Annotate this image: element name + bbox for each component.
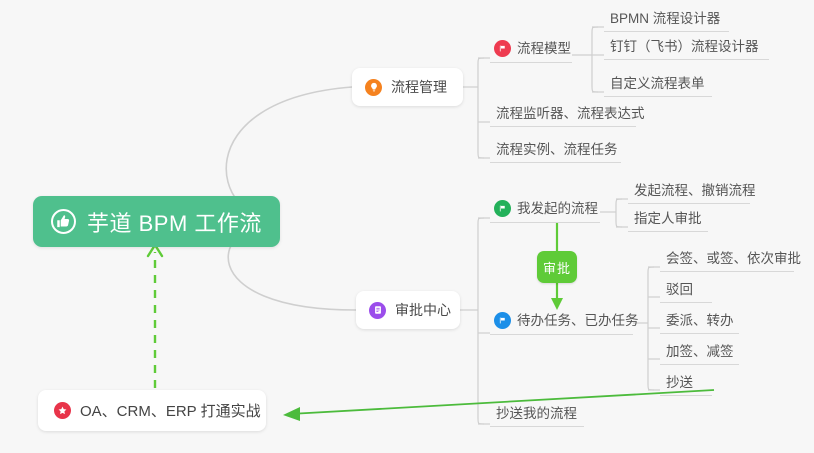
leaf-bpmn-designer[interactable]: BPMN 流程设计器 [604,12,729,32]
leaf-label-faqi-chexiao: 发起流程、撤销流程 [628,184,762,198]
bracket-liucheng-moxing [592,27,598,92]
bracket-shenpi-zhongxin [478,218,484,424]
badge-shenpi[interactable]: 审批 [537,251,577,283]
flag-icon [494,312,511,329]
bracket-wofaqi [616,199,622,227]
leaf-huiqian-huoqian[interactable]: 会签、或签、依次审批 [660,252,794,272]
leaf-label-weipai-zhuanban: 委派、转办 [660,314,740,328]
root-node[interactable]: 芋道 BPM 工作流 [33,196,280,247]
leaf-label-bpmn-designer: BPMN 流程设计器 [604,12,726,26]
root-label: 芋道 BPM 工作流 [87,206,262,238]
branch-label-shenpi-zhongxin: 审批中心 [395,300,451,320]
leaf-faqi-chexiao[interactable]: 发起流程、撤销流程 [628,184,750,204]
branch-label-liucheng-guanli: 流程管理 [391,77,447,97]
flag-icon [494,40,511,57]
arrowhead-shenpi [551,298,563,310]
leaf-label-liucheng-moxing: 流程模型 [511,42,577,56]
thumbs-up-icon [51,209,76,234]
leaf-label-daiban-yiban-renwu: 待办任务、已办任务 [511,314,645,328]
callout-label-oa-crm-erp: OA、CRM、ERP 打通实战 [80,400,261,421]
star-icon [54,402,71,419]
leaf-wo-faqi-de-liucheng[interactable]: 我发起的流程 [490,200,600,223]
branch-node-shenpi-zhongxin[interactable]: 审批中心 [356,291,460,329]
leaf-jiaqian-jianqian[interactable]: 加签、减签 [660,345,739,365]
leaf-zhiding-ren-shenpi[interactable]: 指定人审批 [628,212,708,232]
leaf-chaosong-wode-liucheng[interactable]: 抄送我的流程 [490,407,584,427]
bracket-liucheng-guanli [478,58,484,158]
arrowhead-chaosong [283,407,300,421]
lightbulb-icon [365,79,382,96]
leaf-label-huiqian-huoqian: 会签、或签、依次审批 [660,252,807,266]
leaf-dingtalk-designer[interactable]: 钉钉（飞书）流程设计器 [604,40,769,60]
leaf-label-custom-form: 自定义流程表单 [604,77,711,91]
leaf-label-instance-task: 流程实例、流程任务 [490,143,624,157]
leaf-label-listener-expression: 流程监听器、流程表达式 [490,107,651,121]
leaf-label-dingtalk-designer: 钉钉（飞书）流程设计器 [604,40,765,54]
bracket-daiban [648,267,654,390]
branch-node-liucheng-guanli[interactable]: 流程管理 [352,68,463,106]
leaf-listener-expression[interactable]: 流程监听器、流程表达式 [490,107,636,127]
leaf-label-jiaqian-jianqian: 加签、减签 [660,345,740,359]
leaf-weipai-zhuanban[interactable]: 委派、转办 [660,314,739,334]
callout-node-oa-crm-erp[interactable]: OA、CRM、ERP 打通实战 [38,390,266,431]
leaf-label-bohui: 驳回 [660,283,699,297]
mindmap-canvas: 芋道 BPM 工作流 流程管理 流程模型 BPMN 流程设计器 [0,0,814,453]
leaf-instance-task[interactable]: 流程实例、流程任务 [490,143,621,163]
form-icon [369,302,386,319]
leaf-daiban-yiban-renwu[interactable]: 待办任务、已办任务 [490,312,633,335]
flag-icon [494,200,511,217]
leaf-label-wo-faqi-de-liucheng: 我发起的流程 [511,202,604,216]
leaf-label-chaosong: 抄送 [660,376,699,390]
leaf-bohui[interactable]: 驳回 [660,283,712,303]
leaf-liucheng-moxing[interactable]: 流程模型 [490,40,572,63]
badge-label-shenpi: 审批 [543,258,571,277]
leaf-label-zhiding-ren-shenpi: 指定人审批 [628,212,708,226]
leaf-chaosong[interactable]: 抄送 [660,376,712,396]
leaf-label-chaosong-wode-liucheng: 抄送我的流程 [490,407,583,421]
leaf-custom-form[interactable]: 自定义流程表单 [604,77,712,97]
